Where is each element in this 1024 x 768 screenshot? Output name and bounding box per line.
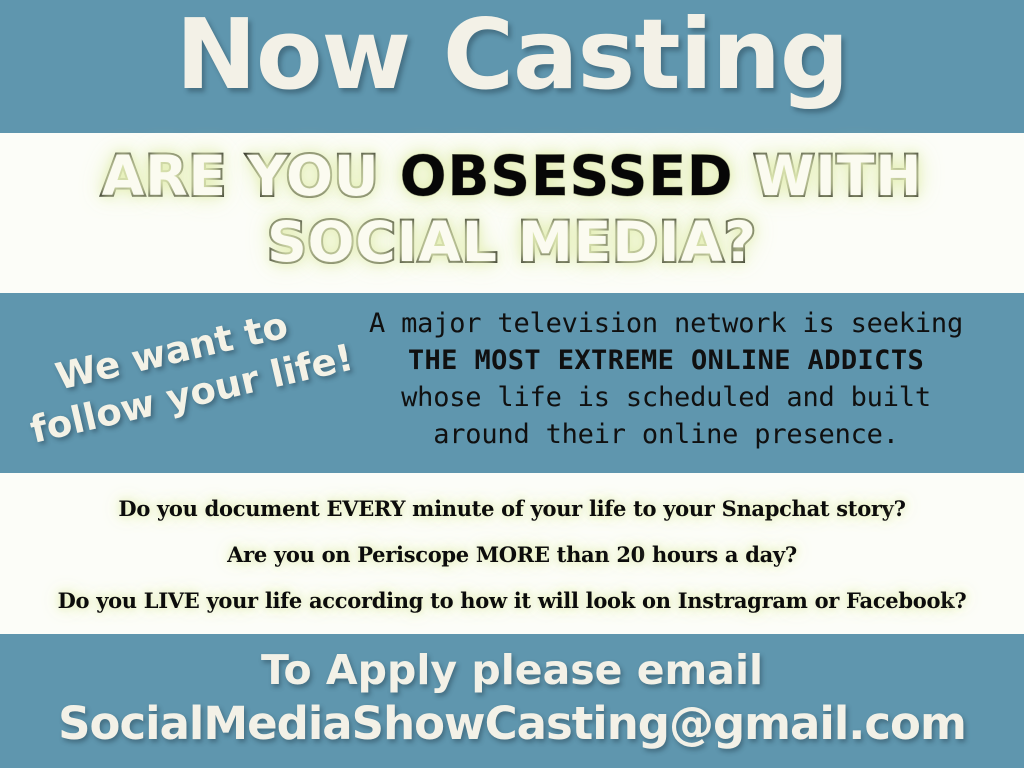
headline-line-1: ARE YOU OBSESSED WITH <box>0 143 1024 209</box>
apply-block: To Apply please email SocialMediaShowCas… <box>0 645 1024 753</box>
headline-social-media: SOCIAL MEDIA? <box>267 210 757 274</box>
apply-email-address[interactable]: SocialMediaShowCasting@gmail.com <box>0 695 1024 753</box>
seeking-paragraph: A major television network is seeking TH… <box>320 305 1012 453</box>
seeking-line-4: around their online presence. <box>320 416 1012 453</box>
casting-poster: Now Casting ARE YOU OBSESSED WITH SOCIAL… <box>0 0 1024 768</box>
quiz-question-1-text: Do you document EVERY minute of your lif… <box>118 496 893 521</box>
headline-line-2: SOCIAL MEDIA? <box>0 209 1024 275</box>
page-title: Now Casting <box>0 6 1024 103</box>
seeking-line-2-emphasis: THE MOST EXTREME ONLINE ADDICTS <box>320 342 1012 379</box>
quiz-question-2-text: Are you on Periscope MORE than <box>227 542 616 567</box>
quiz-question-list: Do you document EVERY minute of your lif… <box>0 486 1024 624</box>
quiz-question-3: Do you LIVE your life according to how i… <box>0 578 1024 624</box>
apply-instruction: To Apply please email <box>0 645 1024 695</box>
quiz-question-1: Do you document EVERY minute of your lif… <box>0 486 1024 532</box>
quiz-question-3-text: Do you LIVE your life according to how i… <box>58 588 955 613</box>
headline-with: WITH <box>734 144 923 208</box>
headline-block: ARE YOU OBSESSED WITH SOCIAL MEDIA? <box>0 143 1024 275</box>
seeking-line-1: A major television network is seeking <box>320 305 1012 342</box>
quiz-question-2-tail: hours a day? <box>645 542 797 567</box>
seeking-line-3: whose life is scheduled and built <box>320 379 1012 416</box>
quiz-question-2-emphasis: 20 <box>616 542 645 567</box>
quiz-question-1-emphasis: ? <box>894 496 906 521</box>
headline-obsessed: OBSESSED <box>400 144 734 208</box>
quiz-question-2: Are you on Periscope MORE than 20 hours … <box>0 532 1024 578</box>
headline-are-you: ARE YOU <box>102 144 400 208</box>
quiz-question-3-emphasis: ? <box>954 588 966 613</box>
